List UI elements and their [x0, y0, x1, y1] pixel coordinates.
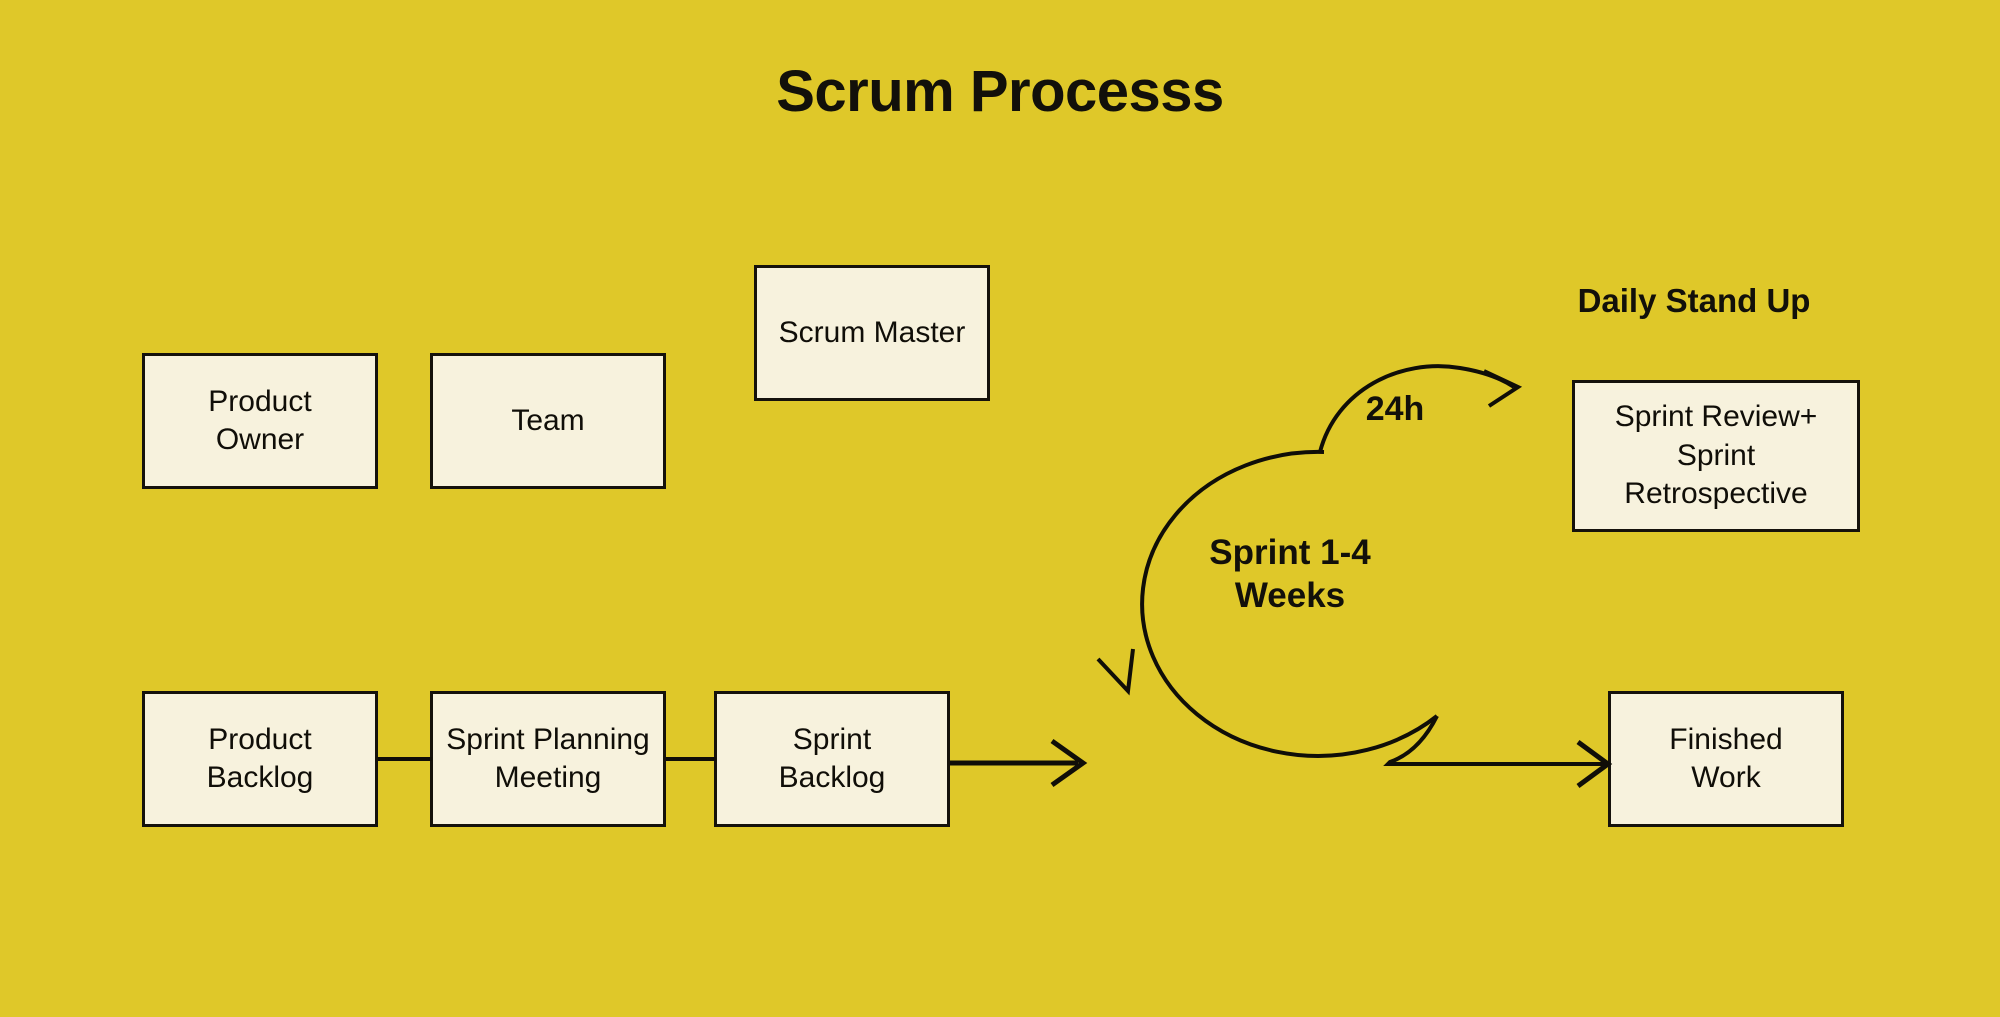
label-daily-stand-up: Daily Stand Up	[1524, 282, 1864, 320]
arrowhead-sprint-cycle	[1098, 649, 1133, 691]
label-sprint-duration: Sprint 1-4 Weeks	[1150, 532, 1430, 617]
node-scrum-master[interactable]: Scrum Master	[754, 265, 990, 401]
node-product-owner[interactable]: Product Owner	[142, 353, 378, 489]
arrowhead-sprint-backlog-to-cycle	[1052, 741, 1083, 785]
node-sprint-review-retrospective[interactable]: Sprint Review+ Sprint Retrospective	[1572, 380, 1860, 532]
node-finished-work[interactable]: Finished Work	[1608, 691, 1844, 827]
node-product-backlog[interactable]: Product Backlog	[142, 691, 378, 827]
arrowhead-cycle-to-finished-work	[1578, 742, 1608, 786]
page-title: Scrum Processs	[0, 58, 2000, 125]
node-sprint-backlog[interactable]: Sprint Backlog	[714, 691, 950, 827]
connector-cycle-to-finished-work	[1388, 716, 1604, 764]
diagram-canvas: Scrum Processs Product Owner Team Scrum …	[0, 0, 2000, 1017]
node-sprint-planning-meeting[interactable]: Sprint Planning Meeting	[430, 691, 666, 827]
label-24h: 24h	[1315, 390, 1475, 429]
node-team[interactable]: Team	[430, 353, 666, 489]
arrowhead-daily-standup	[1484, 371, 1518, 406]
